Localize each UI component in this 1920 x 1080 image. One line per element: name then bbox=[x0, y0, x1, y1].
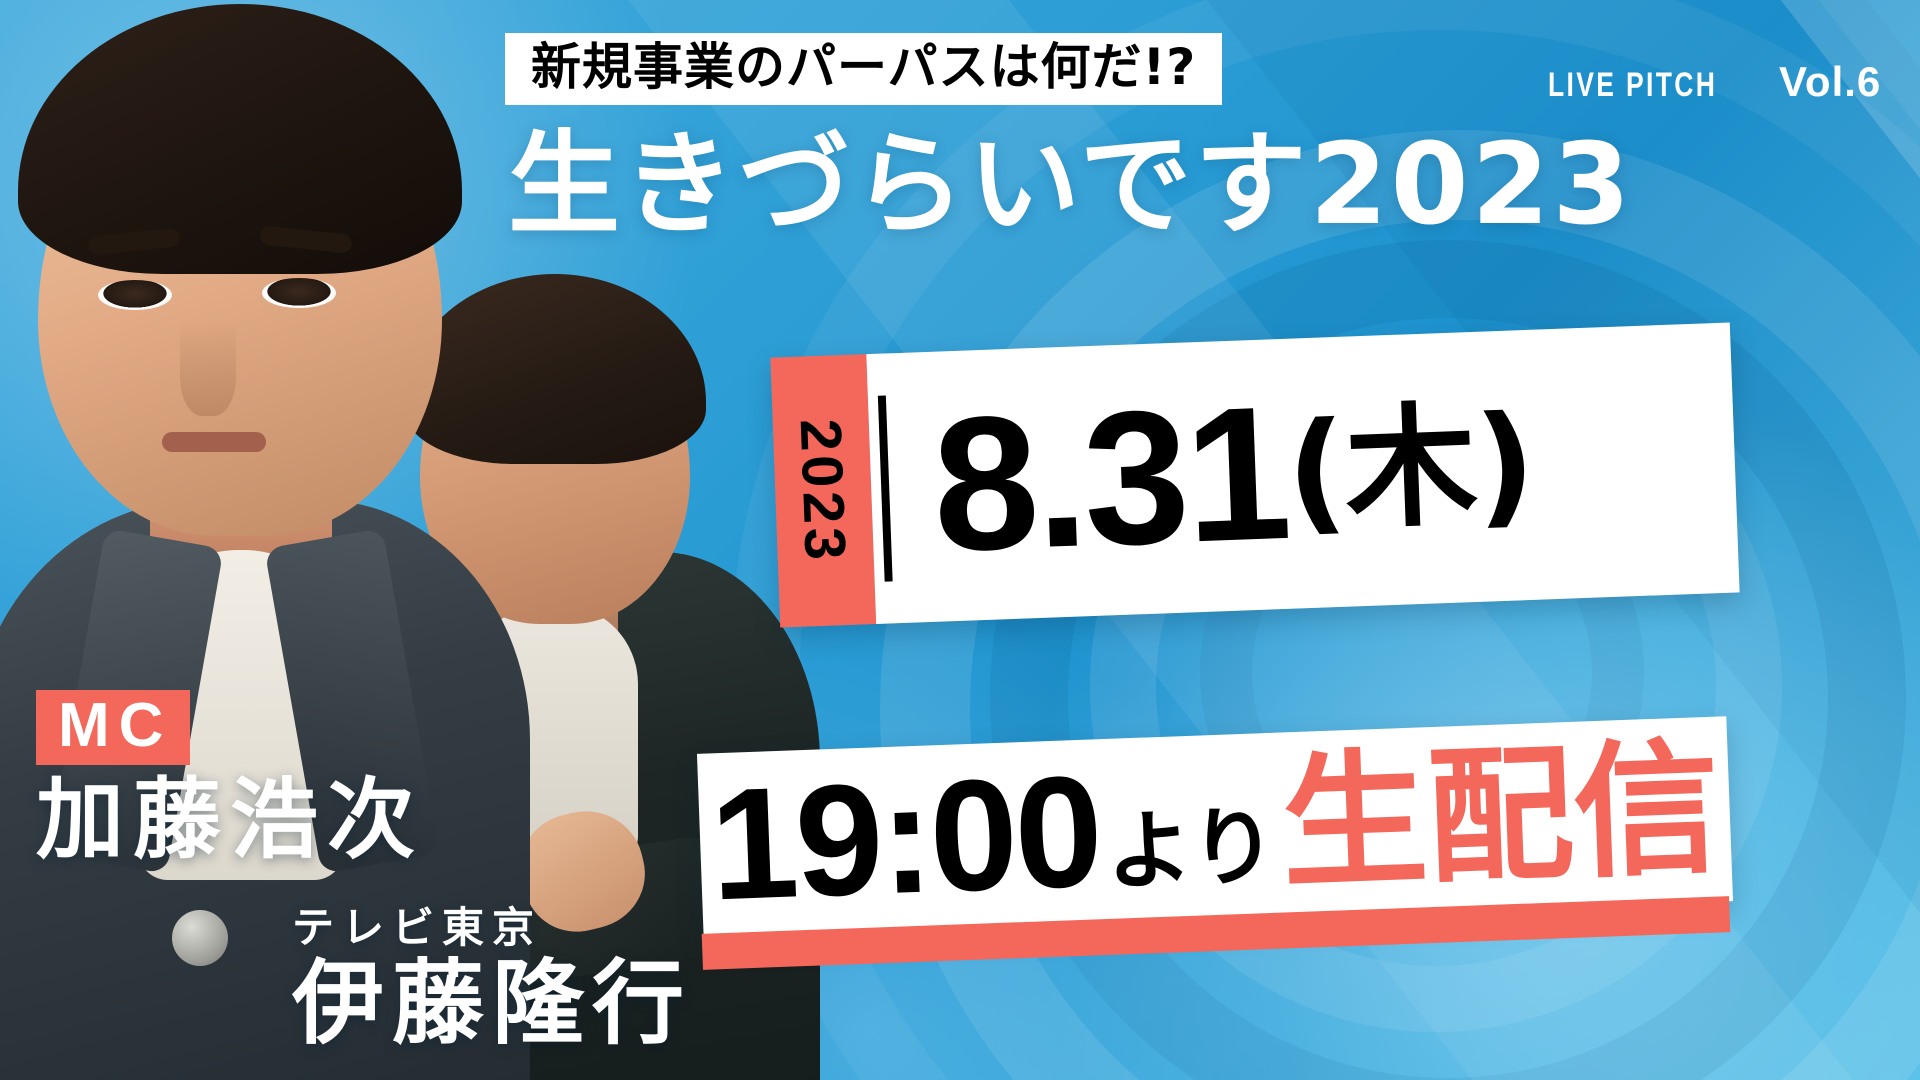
subtitle-banner: 新規事業のパーパスは何だ!? bbox=[505, 33, 1222, 105]
live-broadcast-label: 生配信 bbox=[1279, 745, 1721, 889]
live-pitch-promo-banner: 新規事業のパーパスは何だ!? 生きづらいです2023 LIVE PITCH Vo… bbox=[0, 0, 1920, 1080]
event-day-of-week: (木) bbox=[1285, 408, 1536, 530]
mc-eye-left bbox=[98, 280, 172, 310]
mc-eye-right bbox=[262, 278, 336, 308]
mc-lapel-pin bbox=[172, 910, 228, 966]
series-badge: LIVE PITCH Vol.6 bbox=[1548, 58, 1881, 106]
event-year: 2023 bbox=[787, 417, 859, 564]
guest-name: 伊藤隆行 bbox=[292, 953, 692, 1054]
event-date: 8.31 bbox=[930, 392, 1290, 568]
event-date-card: 2023 8.31 (木) bbox=[770, 323, 1739, 628]
series-label: LIVE PITCH bbox=[1548, 66, 1717, 105]
mc-hair bbox=[18, 4, 462, 274]
date-divider bbox=[878, 395, 893, 581]
mc-nose bbox=[180, 320, 236, 416]
mc-name: 加藤浩次 bbox=[36, 771, 424, 870]
guest-credit-block: テレビ東京 伊藤隆行 bbox=[292, 905, 692, 1054]
event-date-face: 8.31 (木) bbox=[866, 323, 1739, 624]
mc-credit-block: MC 加藤浩次 bbox=[36, 690, 424, 870]
event-time: 19:00 bbox=[708, 762, 1102, 915]
guest-affiliation: テレビ東京 bbox=[292, 905, 692, 951]
series-volume: Vol.6 bbox=[1779, 58, 1881, 106]
mc-role-badge: MC bbox=[36, 690, 190, 765]
mc-mouth bbox=[162, 432, 266, 452]
event-year-strip: 2023 bbox=[770, 354, 876, 627]
subtitle-text: 新規事業のパーパスは何だ!? bbox=[531, 38, 1196, 96]
event-time-suffix: より bbox=[1105, 809, 1278, 891]
page-title: 生きづらいです2023 bbox=[508, 128, 1633, 242]
